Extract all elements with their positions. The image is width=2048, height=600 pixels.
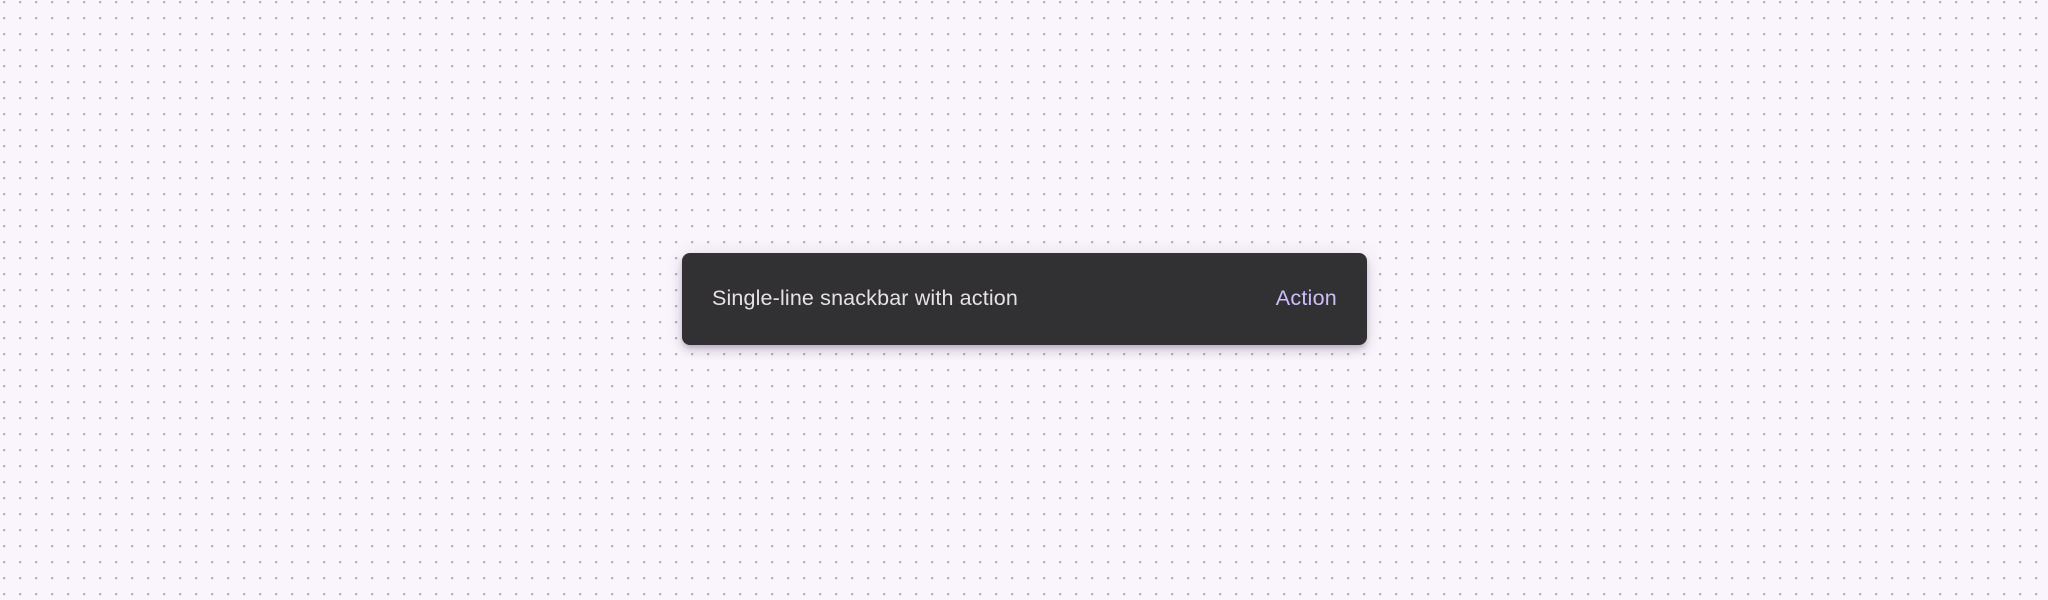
canvas-background: Single-line snackbar with action Action [0, 0, 2048, 600]
snackbar-message: Single-line snackbar with action [712, 284, 1018, 313]
snackbar: Single-line snackbar with action Action [682, 253, 1367, 345]
snackbar-action-button[interactable]: Action [1276, 284, 1337, 313]
